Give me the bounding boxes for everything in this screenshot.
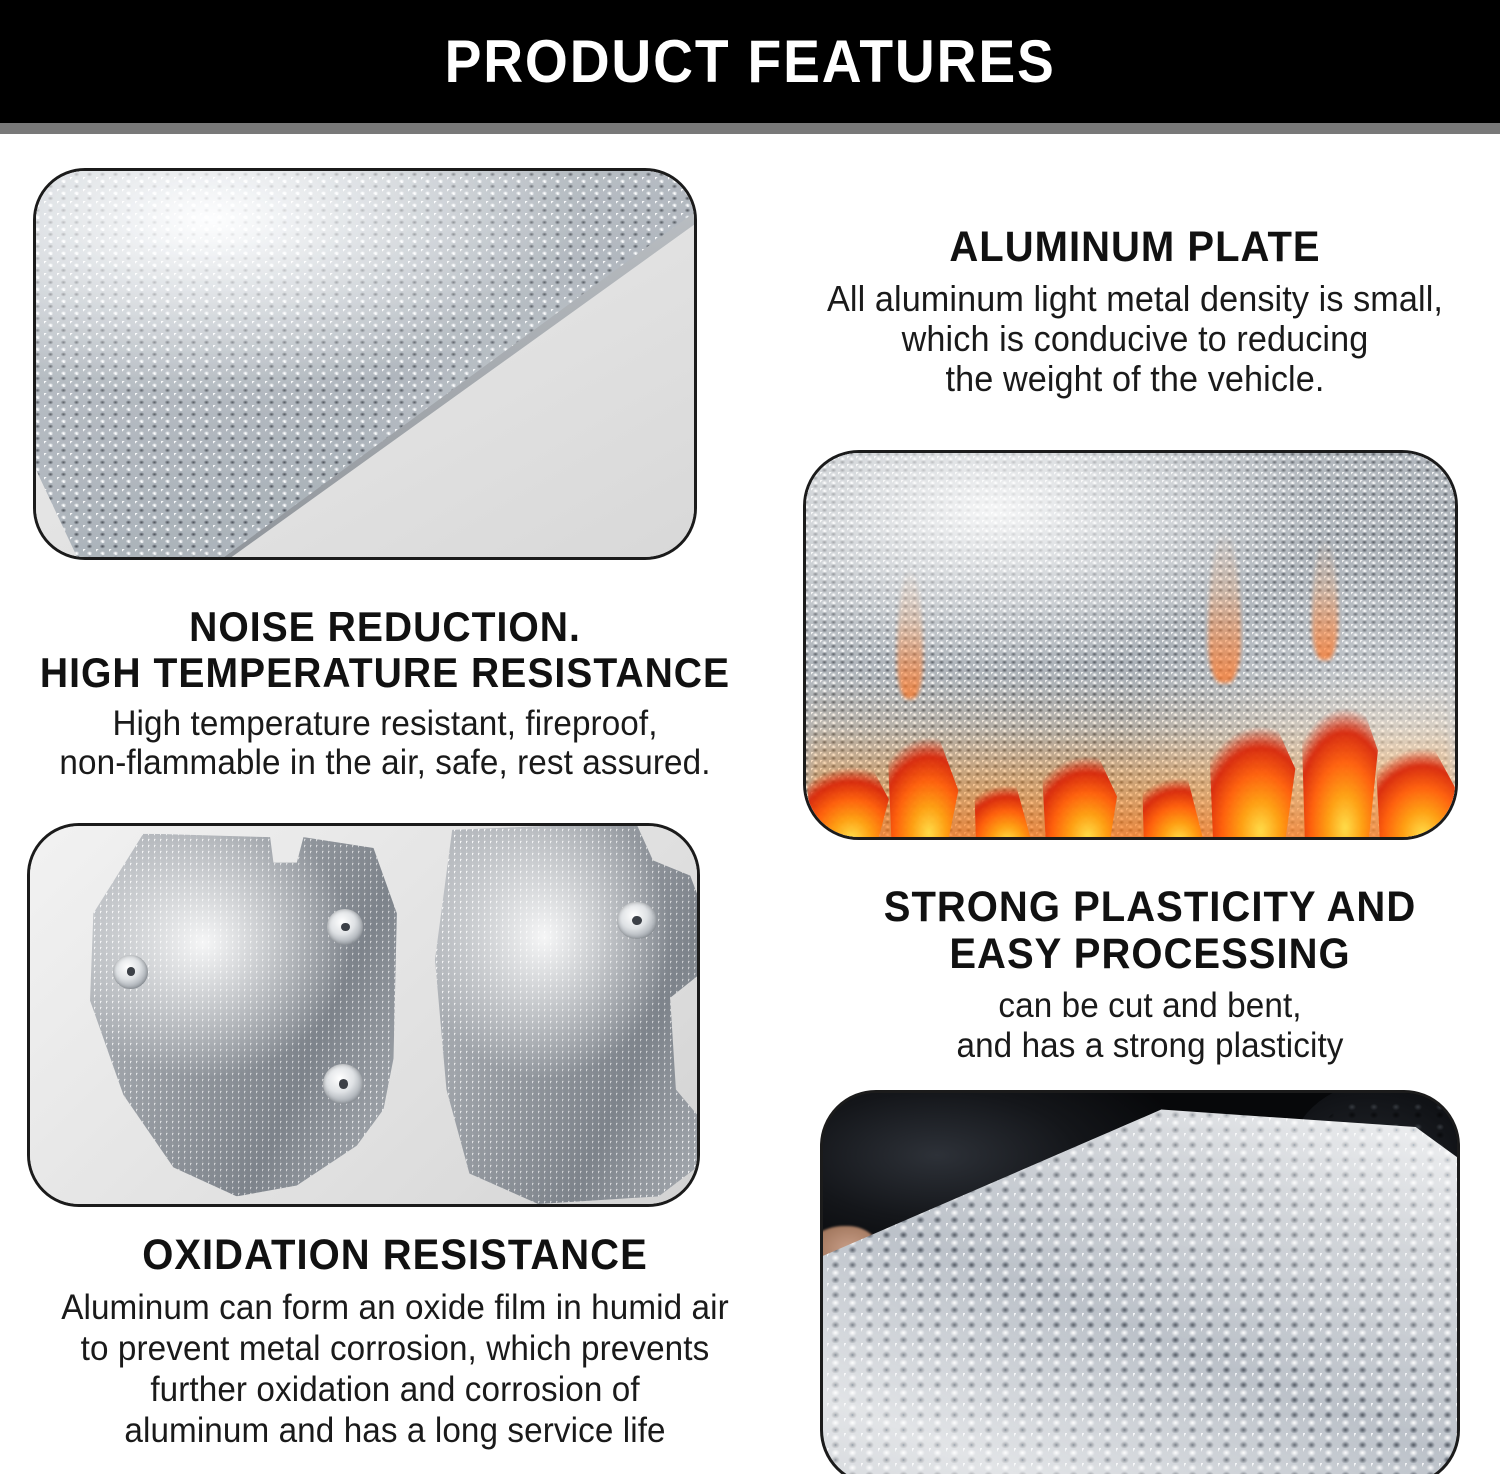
feature-heading: STRONG PLASTICITY AND EASY PROCESSING (825, 884, 1476, 978)
feature-heading: NOISE REDUCTION. HIGH TEMPERATURE RESIST… (27, 604, 743, 696)
mounting-stud (617, 902, 657, 940)
page-title: PRODUCT FEATURES (444, 32, 1055, 92)
photo-mesh-with-flames (803, 450, 1458, 840)
feature-noise-reduction: NOISE REDUCTION. HIGH TEMPERATURE RESIST… (0, 604, 770, 782)
header-divider (0, 123, 1500, 134)
header-banner: PRODUCT FEATURES (0, 0, 1500, 123)
feature-heading: ALUMINUM PLATE (796, 224, 1475, 271)
feature-body: can be cut and bent, and has a strong pl… (818, 986, 1483, 1066)
feature-strong-plasticity: STRONG PLASTICITY AND EASY PROCESSING ca… (800, 884, 1500, 1066)
photo-bending-sheet (820, 1090, 1460, 1474)
feature-body: All aluminum light metal density is smal… (788, 279, 1482, 399)
photo-folded-mesh-sheet (33, 168, 697, 560)
shield-shading (424, 823, 700, 1204)
product-features-infographic: PRODUCT FEATURES ALUMINUM PLATE All alum… (0, 0, 1500, 1474)
mounting-stud (113, 955, 148, 989)
feature-heading: OXIDATION RESISTANCE (28, 1232, 763, 1279)
feature-body: High temperature resistant, fireproof, n… (19, 704, 751, 782)
feature-oxidation-resistance: OXIDATION RESISTANCE Aluminum can form a… (0, 1232, 790, 1451)
feature-aluminum-plate: ALUMINUM PLATE All aluminum light metal … (770, 224, 1500, 399)
feature-body: Aluminum can form an oxide film in humid… (20, 1287, 771, 1451)
photo-formed-heat-shields (27, 823, 700, 1207)
flame-group (806, 453, 1455, 837)
heat-shield-part-right (424, 823, 700, 1204)
flame-wisp (1208, 530, 1240, 684)
